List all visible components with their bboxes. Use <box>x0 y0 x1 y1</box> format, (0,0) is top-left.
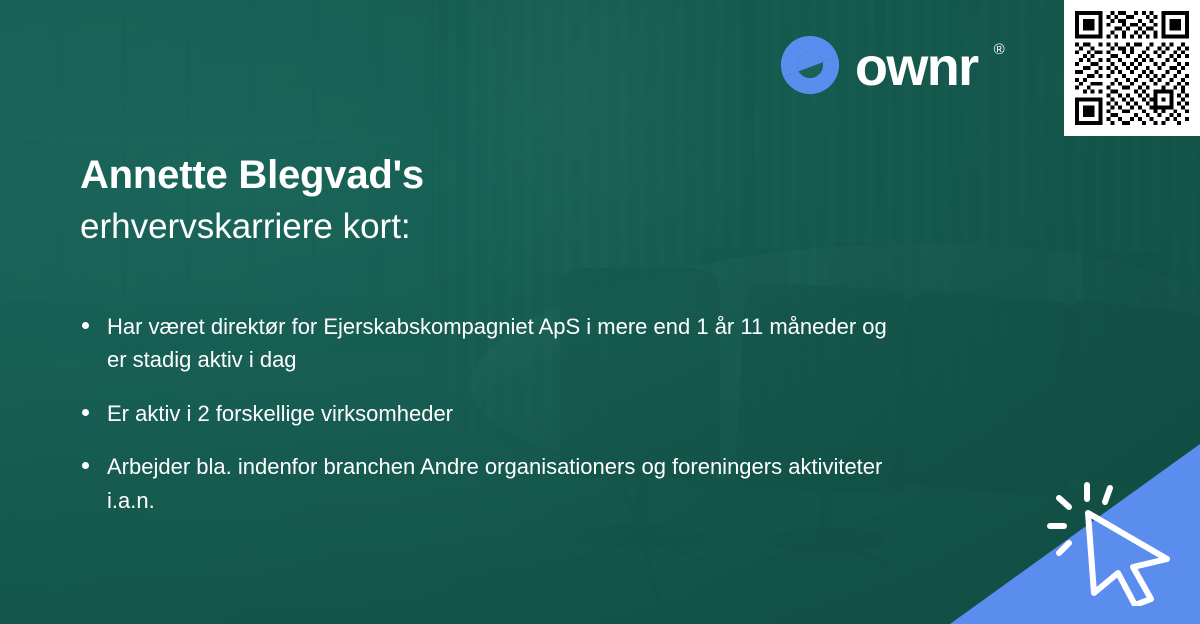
click-cursor-icon <box>1047 481 1182 606</box>
list-item: Er aktiv i 2 forskellige virksomheder <box>80 397 910 430</box>
list-item-text: Arbejder bla. indenfor branchen Andre or… <box>107 454 882 512</box>
list-item: Har været direktør for Ejerskabskompagni… <box>80 310 910 377</box>
page-title: Annette Blegvad's erhvervskarriere kort: <box>80 152 840 248</box>
ownr-swirl-mark-icon <box>779 34 841 96</box>
business-card-image: Annette Blegvad's erhvervskarriere kort:… <box>0 0 1200 624</box>
ownr-wordmark: ownr <box>855 40 978 94</box>
blue-triangle <box>950 444 1200 624</box>
corner-accent <box>950 444 1200 624</box>
card-content: Annette Blegvad's erhvervskarriere kort:… <box>0 0 1200 624</box>
list-item-text: Er aktiv i 2 forskellige virksomheder <box>107 401 453 426</box>
qr-code[interactable] <box>1064 0 1200 136</box>
list-item-text: Har været direktør for Ejerskabskompagni… <box>107 314 887 372</box>
title-line-2: erhvervskarriere kort: <box>80 206 840 248</box>
qr-code-image <box>1075 11 1189 125</box>
bullet-dot-icon <box>82 462 89 469</box>
bullet-dot-icon <box>82 322 89 329</box>
list-item: Arbejder bla. indenfor branchen Andre or… <box>80 450 910 517</box>
registered-trademark-symbol: ® <box>994 41 1005 58</box>
bullet-dot-icon <box>82 409 89 416</box>
ownr-logo[interactable]: ownr ® <box>779 34 1003 96</box>
title-line-1: Annette Blegvad's <box>80 152 840 199</box>
fact-list: Har været direktør for Ejerskabskompagni… <box>80 310 910 537</box>
